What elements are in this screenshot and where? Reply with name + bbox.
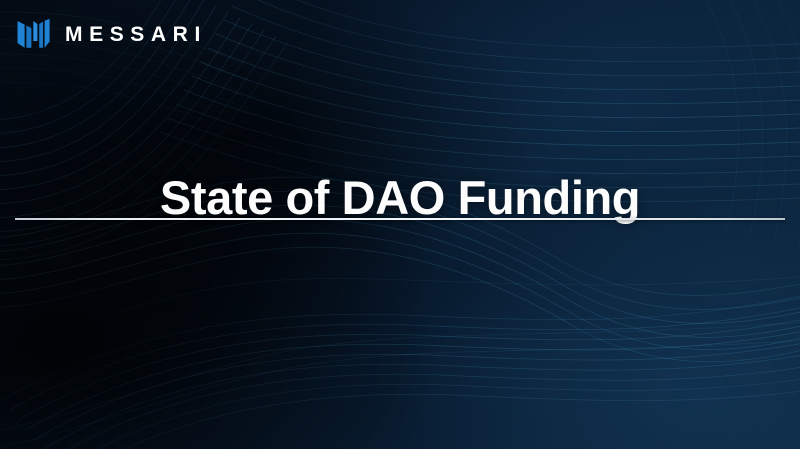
messari-logo: MESSARI [17,17,207,51]
slide-title: State of DAO Funding [0,173,800,224]
background-vignette [0,0,800,449]
messari-m-logo-icon [17,19,50,50]
title-slide: MESSARI State of DAO Funding [0,0,800,449]
messari-wordmark: MESSARI [65,24,207,45]
title-divider [15,218,785,220]
